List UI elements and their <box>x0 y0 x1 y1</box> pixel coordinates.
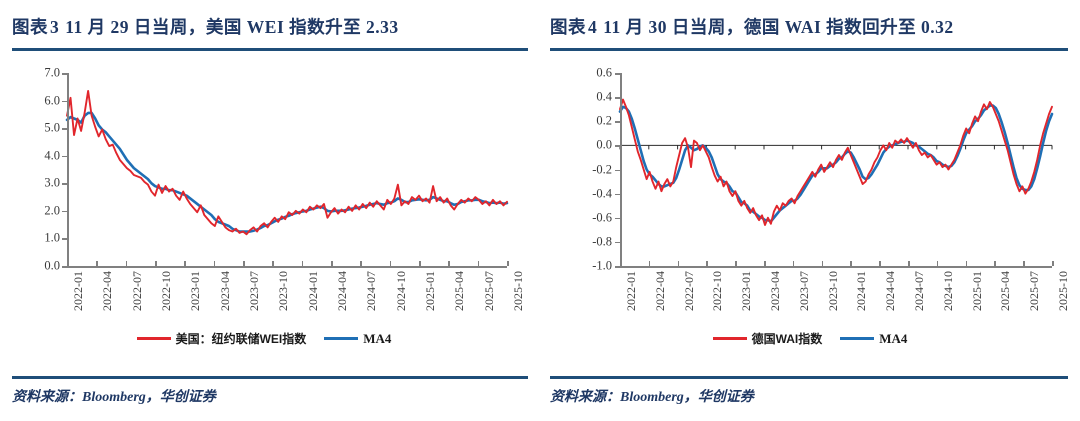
figure-4-title-text: 11 月 30 日当周，德国 WAI 指数回升至 0.32 <box>603 17 953 37</box>
figure-3-source: 资料来源：Bloomberg，华创证券 <box>12 386 216 406</box>
figure-3-x-tick-label: 2025-10 <box>511 271 526 311</box>
figure-4-title: 图表411 月 30 日当周，德国 WAI 指数回升至 0.32 <box>550 0 1080 39</box>
figure-3-title-prefix: 图表 <box>12 17 48 37</box>
figure-3-title-rule <box>12 48 528 51</box>
figure-3-y-tick-label: 7.0 <box>44 66 60 81</box>
figure-3-title-number: 3 <box>48 17 65 37</box>
figure-4-x-tick-label: 2023-01 <box>739 271 754 311</box>
figure-4-legend-label: MA4 <box>879 331 907 347</box>
figure-4-y-tick <box>615 73 620 75</box>
figure-3-vertical-axis <box>67 73 69 266</box>
figure-4-title-prefix: 图表 <box>550 17 586 37</box>
figure-3-legend-label: MA4 <box>363 331 391 347</box>
figure-3-y-axis: 7.06.05.04.03.02.01.00.0 <box>12 73 60 266</box>
figure-3-plot-area <box>67 73 507 266</box>
figure-3-x-tick <box>126 261 128 266</box>
figure-4-x-tick-label: 2022-04 <box>653 271 668 311</box>
figure-4-y-tick-label: 0.4 <box>596 90 612 105</box>
figure-panel-4: 图表411 月 30 日当周，德国 WAI 指数回升至 0.32 0.60.40… <box>540 0 1080 421</box>
figure-3-series-svg <box>67 73 507 266</box>
figure-4-x-tick <box>678 261 680 266</box>
figure-4-x-tick <box>1023 261 1025 266</box>
figure-4-vertical-axis <box>620 73 622 266</box>
figure-3-x-tick <box>243 261 245 266</box>
figure-4-x-tick-label: 2025-04 <box>998 271 1013 311</box>
figure-4-x-tick-label: 2025-01 <box>970 271 985 311</box>
figure-3-y-tick <box>62 156 67 158</box>
figure-4-y-axis: 0.60.40.20.0-0.2-0.4-0.6-0.8-1.0 <box>550 73 612 266</box>
figure-3-legend-label: 美国：纽约联储WEI指数 <box>176 330 307 347</box>
figure-4-y-tick <box>615 97 620 99</box>
figure-4-plot-area <box>620 73 1052 266</box>
figure-panel-3: 图表311 月 29 日当周，美国 WEI 指数升至 2.33 7.06.05.… <box>0 0 540 421</box>
figure-4-series-svg <box>620 73 1052 266</box>
figure-4-x-tick-label: 2022-01 <box>624 271 639 311</box>
figure-4-horizontal-axis <box>620 266 1052 268</box>
figure-4-x-tick <box>649 261 651 266</box>
figure-4-y-tick-label: 0.0 <box>596 138 612 153</box>
figure-4-x-tick <box>793 261 795 266</box>
figure-4-chart: 0.60.40.20.0-0.2-0.4-0.6-0.8-1.0 2022-01… <box>550 55 1066 355</box>
figure-4-x-tick <box>966 261 968 266</box>
figure-3-x-tick <box>272 261 274 266</box>
figure-4-legend-item[interactable]: MA4 <box>840 331 907 347</box>
figure-3-x-tick-label: 2024-07 <box>364 271 379 311</box>
figure-3-x-tick-label: 2023-10 <box>276 271 291 311</box>
figure-4-series-line <box>620 100 1052 225</box>
legend-swatch-icon <box>713 337 747 340</box>
figure-3-y-tick-label: 5.0 <box>44 121 60 136</box>
figure-3-title: 图表311 月 29 日当周，美国 WEI 指数升至 2.33 <box>12 0 540 39</box>
figure-3-legend-item[interactable]: 美国：纽约联储WEI指数 <box>137 330 307 347</box>
figure-4-x-tick <box>822 261 824 266</box>
figure-3-chart: 7.06.05.04.03.02.01.00.0 2022-012022-042… <box>12 55 528 355</box>
figure-3-y-tick <box>62 211 67 213</box>
figure-4-y-tick-label: -0.8 <box>592 234 612 249</box>
figure-4-y-tick <box>615 170 620 172</box>
figure-4-y-tick <box>615 242 620 244</box>
figure-4-series-line <box>620 106 1052 222</box>
figure-4-x-tick <box>706 261 708 266</box>
figure-3-title-text: 11 月 29 日当周，美国 WEI 指数升至 2.33 <box>65 17 398 37</box>
figure-3-x-tick-label: 2024-10 <box>394 271 409 311</box>
figure-3-x-tick-label: 2023-04 <box>218 271 233 311</box>
figure-4-x-tick <box>620 261 622 266</box>
figure-3-x-tick <box>96 261 98 266</box>
figure-3-y-tick-label: 3.0 <box>44 176 60 191</box>
figure-3-y-tick <box>62 101 67 103</box>
figure-4-x-tick-label: 2024-07 <box>912 271 927 311</box>
figure-4-x-tick-label: 2024-01 <box>854 271 869 311</box>
figure-4-y-tick <box>615 145 620 147</box>
figure-4-legend-item[interactable]: 德国WAI指数 <box>713 330 823 347</box>
figure-4-y-tick-label: -0.4 <box>592 186 612 201</box>
figure-4-x-tick-label: 2023-07 <box>797 271 812 311</box>
figure-4-y-tick-label: -1.0 <box>592 259 612 274</box>
figure-4-x-tick <box>1052 261 1054 266</box>
figure-4-x-tick <box>937 261 939 266</box>
figure-4-x-tick-label: 2023-04 <box>768 271 783 311</box>
figure-4-y-tick-label: -0.2 <box>592 162 612 177</box>
figure-4-y-tick <box>615 218 620 220</box>
figure-4-x-tick <box>735 261 737 266</box>
figure-3-x-tick <box>184 261 186 266</box>
figure-3-y-tick-label: 4.0 <box>44 148 60 163</box>
figure-3-x-tick <box>331 261 333 266</box>
figure-4-footer-rule <box>550 376 1068 379</box>
figure-4-y-tick-label: -0.6 <box>592 210 612 225</box>
legend-swatch-icon <box>840 337 874 340</box>
figure-4-x-tick-label: 2025-10 <box>1056 271 1071 311</box>
figure-3-x-tick-label: 2024-04 <box>335 271 350 311</box>
figure-4-x-tick-label: 2025-07 <box>1027 271 1042 311</box>
figure-4-x-tick-label: 2022-10 <box>710 271 725 311</box>
figure-3-y-tick <box>62 238 67 240</box>
figure-3-y-tick <box>62 183 67 185</box>
figure-3-x-tick-label: 2025-04 <box>452 271 467 311</box>
figure-3-x-tick-label: 2024-01 <box>306 271 321 311</box>
figure-3-y-tick-label: 0.0 <box>44 259 60 274</box>
figure-4-x-tick <box>994 261 996 266</box>
figure-4-x-tick <box>879 261 881 266</box>
legend-swatch-icon <box>324 337 358 340</box>
figure-3-x-tick-label: 2025-07 <box>482 271 497 311</box>
figure-3-x-tick <box>390 261 392 266</box>
figure-3-x-tick-label: 2023-01 <box>188 271 203 311</box>
figure-4-title-number: 4 <box>586 17 603 37</box>
figure-3-x-tick <box>478 261 480 266</box>
figure-4-x-tick <box>764 261 766 266</box>
figure-3-x-tick-label: 2022-04 <box>100 271 115 311</box>
figure-4-title-rule <box>550 48 1068 51</box>
figure-3-x-tick-label: 2023-07 <box>247 271 262 311</box>
figure-4-y-tick <box>615 121 620 123</box>
figure-3-x-tick <box>67 261 69 266</box>
figure-3-x-tick <box>214 261 216 266</box>
figure-3-x-tick <box>155 261 157 266</box>
figure-3-x-tick-label: 2022-01 <box>71 271 86 311</box>
figure-3-x-tick-label: 2022-07 <box>130 271 145 311</box>
figure-3-legend-item[interactable]: MA4 <box>324 331 391 347</box>
figure-4-source: 资料来源：Bloomberg，华创证券 <box>550 386 754 406</box>
figure-3-y-tick-label: 2.0 <box>44 203 60 218</box>
figure-4-legend-label: 德国WAI指数 <box>752 330 823 347</box>
figure-4-x-tick-label: 2024-04 <box>883 271 898 311</box>
figure-4-x-tick-label: 2022-07 <box>682 271 697 311</box>
figure-3-x-tick <box>507 261 509 266</box>
figure-4-y-tick-label: 0.2 <box>596 114 612 129</box>
figure-3-x-tick <box>419 261 421 266</box>
figure-3-footer-rule <box>12 376 528 379</box>
figure-4-x-tick-label: 2024-10 <box>941 271 956 311</box>
figure-3-series-line <box>67 91 507 234</box>
figure-3-x-tick <box>302 261 304 266</box>
legend-swatch-icon <box>137 337 171 340</box>
figure-4-legend: 德国WAI指数MA4 <box>546 330 1074 347</box>
figure-3-x-tick <box>448 261 450 266</box>
figure-4-x-tick <box>908 261 910 266</box>
figure-4-y-tick-label: 0.6 <box>596 66 612 81</box>
figure-3-y-tick-label: 1.0 <box>44 231 60 246</box>
figure-3-y-tick <box>62 128 67 130</box>
figure-4-x-tick <box>850 261 852 266</box>
figure-4-y-tick <box>615 194 620 196</box>
figure-4-x-tick-label: 2023-10 <box>826 271 841 311</box>
figure-3-x-tick <box>360 261 362 266</box>
figure-3-y-tick <box>62 73 67 75</box>
figure-3-y-tick-label: 6.0 <box>44 93 60 108</box>
figure-3-x-tick-label: 2022-10 <box>159 271 174 311</box>
figure-3-legend: 美国：纽约联储WEI指数MA4 <box>0 330 528 347</box>
figures-page: 图表311 月 29 日当周，美国 WEI 指数升至 2.33 7.06.05.… <box>0 0 1080 421</box>
figure-3-x-tick-label: 2025-01 <box>423 271 438 311</box>
figure-3-horizontal-axis <box>67 266 507 268</box>
